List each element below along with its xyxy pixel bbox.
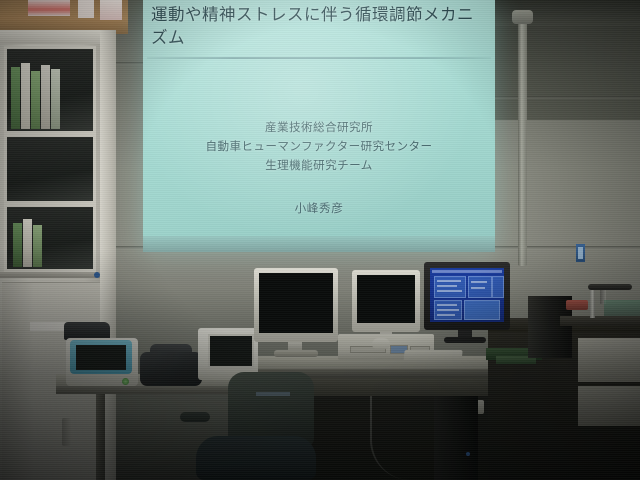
computer-keyboard[interactable] [403,350,462,363]
lcd-monitor-right-screen[interactable] [430,268,504,322]
wall-label-sticker-inner [578,247,583,259]
binder [21,63,30,129]
projection-screen-bottom-edge [143,236,495,252]
slide-title-divider [147,57,491,59]
lcd-monitor-left-base [274,350,318,357]
red-container [566,300,588,310]
cabinet-glass-door[interactable] [4,204,96,272]
cabinet-glass-door[interactable] [4,46,96,134]
chair-brand-label [256,392,290,396]
bench-drawer[interactable] [578,386,640,426]
power-led-icon [122,378,129,385]
bench-drawer[interactable] [578,338,640,382]
tower-pc-under-desk[interactable] [434,396,478,480]
projection-screen: 運動や精神ストレスに伴う循環調節メカニズム 産業技術総合研究所 自動車ヒューマン… [143,0,495,252]
drying-rack [604,300,640,316]
cork-notice-board [0,0,128,34]
binder [11,67,20,129]
slide-affiliation-line: 自動車ヒューマンファクター研究センター [143,137,495,156]
app-panel-left [434,276,466,298]
slide-presenter-name: 小峰秀彦 [143,200,495,216]
binder [41,65,50,129]
office-chair-seat[interactable] [196,436,316,480]
cabinet-glass-door[interactable] [4,134,96,204]
binder [31,71,40,129]
board-paper-notice [28,0,70,16]
left-bench-leg [96,394,105,480]
binder [13,223,22,267]
app-panel-mid [468,276,492,298]
app-data-list [434,300,462,320]
lab-room-photo: 運動や精神ストレスに伴う循環調節メカニズム 産業技術総合研究所 自動車ヒューマン… [0,0,640,480]
faucet-arm[interactable] [588,284,632,290]
lcd-monitor-center-screen [357,275,415,323]
cabinet-top-rail [0,30,116,44]
power-led-icon [466,452,470,456]
measurement-device-blue-screen [76,345,126,370]
slide-affiliation-line: 産業技術総合研究所 [143,118,495,137]
slide-title: 運動や精神ストレスに伴う循環調節メカニズム [151,4,487,50]
binder [33,225,42,267]
wall-conduit-pipe [518,16,527,266]
board-paper-notice [78,0,94,18]
lcd-monitor-right-base [444,337,486,343]
app-waveform-panel [464,300,500,320]
board-paper-notice [100,0,122,20]
wall-seam-upper [495,96,640,99]
lcd-monitor-left-screen [259,273,333,333]
app-panel-right [492,276,504,298]
app-title-bar [432,270,502,273]
equipment-bag [140,352,202,386]
sink-counter [560,316,640,326]
cabinet-handle[interactable] [62,418,71,446]
office-chair-arm[interactable] [180,412,210,422]
slide-affiliation: 産業技術総合研究所 自動車ヒューマンファクター研究センター 生理機能研究チーム [143,118,495,174]
binder [51,69,60,129]
slide-affiliation-line: 生理機能研究チーム [143,156,495,175]
faucet-stem[interactable] [590,286,595,318]
measurement-device-white-screen [208,334,254,368]
computer-mouse[interactable] [372,338,390,349]
pipe-ceiling-bracket [512,10,533,24]
binder [23,219,32,267]
